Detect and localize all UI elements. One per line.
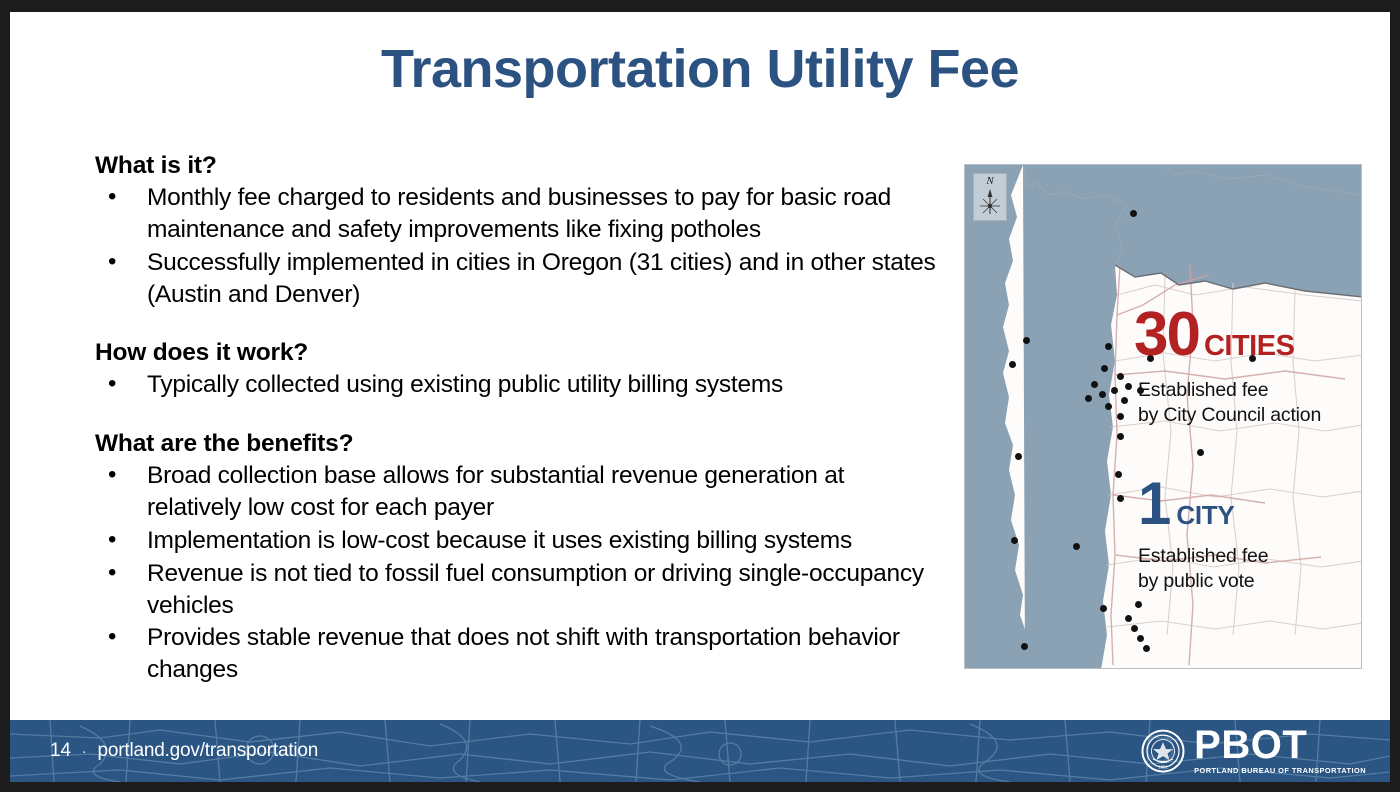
list-item: • Broad collection base allows for subst… (95, 460, 940, 524)
presentation-slide: Transportation Utility Fee What is it? •… (10, 12, 1390, 782)
pbot-tagline: PORTLAND BUREAU OF TRANSPORTATION (1194, 766, 1366, 775)
bullet-glyph: • (108, 459, 116, 490)
stat-description-line: Established fee (1138, 544, 1268, 569)
compass-north-label: N (974, 174, 1006, 188)
stat-value: 30 (1134, 304, 1199, 366)
bullet-list: • Typically collected using existing pub… (95, 369, 940, 401)
svg-text:1851: 1851 (1159, 764, 1169, 769)
stat-value: 1 (1138, 474, 1170, 534)
stat-description-line: by City Council action (1138, 403, 1321, 428)
list-item-text: Typically collected using existing publi… (147, 371, 783, 398)
list-item-text: Monthly fee charged to residents and bus… (147, 184, 891, 243)
bullet-list: • Broad collection base allows for subst… (95, 460, 940, 686)
stat-description-line: Established fee (1138, 378, 1321, 403)
page-title: Transportation Utility Fee (10, 38, 1390, 100)
list-item: • Implementation is low-cost because it … (95, 525, 940, 557)
section-heading: What is it? (95, 152, 940, 180)
list-item: • Revenue is not tied to fossil fuel con… (95, 558, 940, 622)
slide-body-content: What is it? • Monthly fee charged to res… (95, 152, 940, 687)
content-section: How does it work? • Typically collected … (95, 339, 940, 401)
bullet-list: • Monthly fee charged to residents and b… (95, 182, 940, 310)
stat-30-cities: 30 CITIES (1134, 304, 1294, 366)
section-spacer (95, 311, 940, 339)
stat-30-description: Established fee by City Council action (1138, 378, 1321, 429)
footer-url[interactable]: portland.gov/transportation (98, 740, 319, 762)
bullet-glyph: • (108, 368, 116, 399)
slide-footer: 14 · portland.gov/transportation 1851 PB… (10, 720, 1390, 782)
pbot-wordmark: PBOT PORTLAND BUREAU OF TRANSPORTATION (1194, 727, 1366, 775)
bullet-glyph: • (108, 621, 116, 652)
list-item-text: Broad collection base allows for substan… (147, 462, 844, 521)
stat-unit: CITY (1176, 500, 1234, 531)
bullet-glyph: • (108, 557, 116, 588)
list-item: • Provides stable revenue that does not … (95, 622, 940, 686)
pbot-text: PBOT (1194, 727, 1366, 764)
city-of-portland-seal-icon: 1851 (1141, 729, 1185, 773)
stat-unit: CITIES (1204, 330, 1294, 363)
footer-separator: · (82, 743, 87, 760)
footer-caption: 14 · portland.gov/transportation (50, 740, 318, 762)
section-spacer (95, 402, 940, 430)
list-item: • Successfully implemented in cities in … (95, 247, 940, 311)
bullet-glyph: • (108, 524, 116, 555)
section-heading: What are the benefits? (95, 430, 940, 458)
content-section: What are the benefits? • Broad collectio… (95, 430, 940, 686)
list-item-text: Revenue is not tied to fossil fuel consu… (147, 560, 924, 619)
list-item: • Monthly fee charged to residents and b… (95, 182, 940, 246)
pbot-logo: 1851 PBOT PORTLAND BUREAU OF TRANSPORTAT… (1141, 727, 1366, 775)
bullet-glyph: • (108, 246, 116, 277)
list-item-text: Successfully implemented in cities in Or… (147, 249, 936, 308)
content-section: What is it? • Monthly fee charged to res… (95, 152, 940, 310)
page-number: 14 (50, 740, 71, 762)
stat-1-description: Established fee by public vote (1138, 544, 1268, 595)
list-item-text: Implementation is low-cost because it us… (147, 527, 852, 554)
stat-1-city: 1 CITY (1138, 474, 1234, 534)
list-item-text: Provides stable revenue that does not sh… (147, 624, 900, 683)
section-heading: How does it work? (95, 339, 940, 367)
compass-rose-icon: N (973, 173, 1007, 221)
list-item: • Typically collected using existing pub… (95, 369, 940, 401)
bullet-glyph: • (108, 181, 116, 212)
stat-description-line: by public vote (1138, 569, 1268, 594)
